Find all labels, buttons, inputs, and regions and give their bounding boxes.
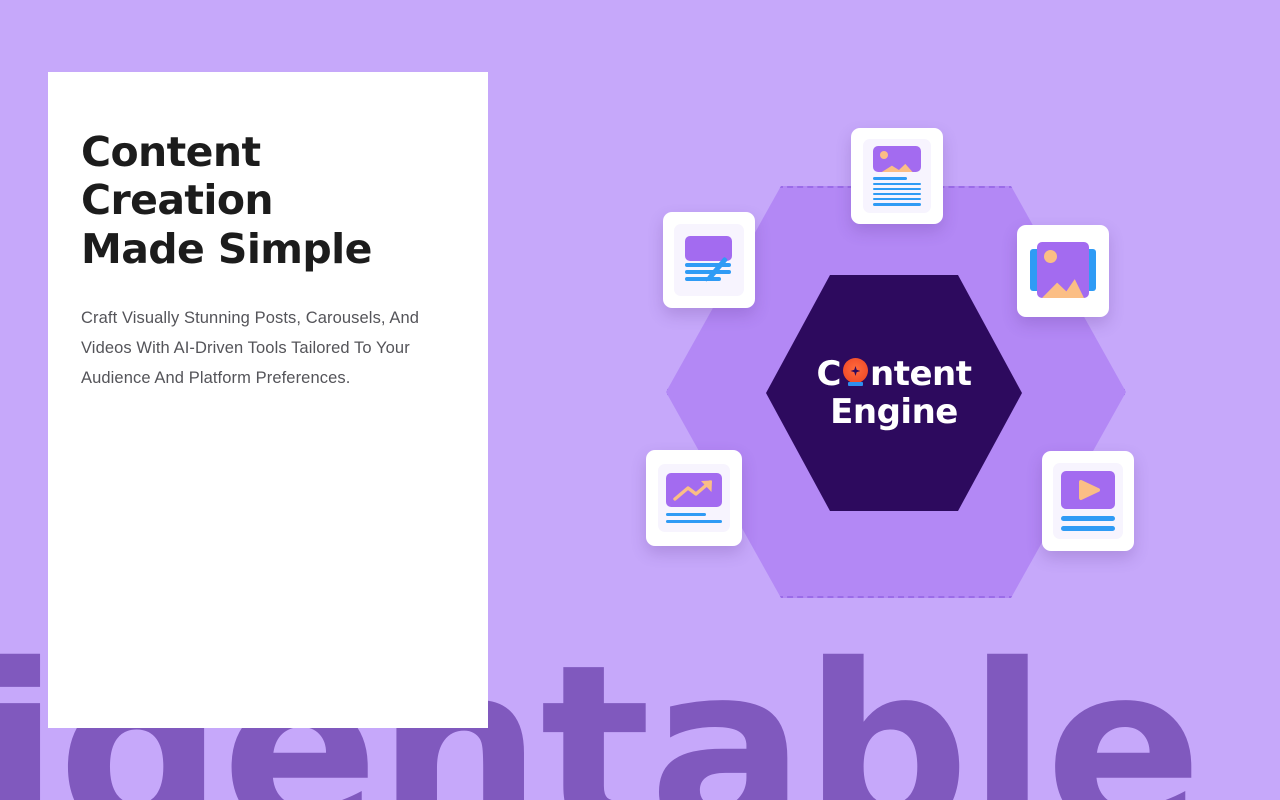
content-engine-graphic: C ntent Engine: [620, 100, 1160, 620]
image-gallery-icon: [1037, 242, 1089, 298]
text-line: [1061, 526, 1115, 531]
text-line: [873, 188, 921, 191]
badge-label-line-2: Engine: [830, 393, 958, 431]
text-line: [873, 183, 921, 186]
video-text-lines: [1061, 516, 1115, 531]
page-title: Content Creation Made Simple: [81, 128, 448, 273]
analytics-card[interactable]: [646, 450, 742, 546]
article-icon-frame: [863, 139, 931, 213]
sun-shape: [1044, 250, 1057, 263]
text-line: [666, 520, 722, 524]
text-line: [873, 203, 921, 206]
article-card[interactable]: [851, 128, 943, 224]
badge-label-line-1: C ntent: [817, 355, 972, 393]
text-line: [1061, 516, 1115, 521]
content-panel: Content Creation Made Simple Craft Visua…: [48, 72, 488, 728]
spark-bulb-icon: [842, 358, 869, 389]
badge-label-ntent: ntent: [870, 355, 971, 393]
page-description: Craft Visually Stunning Posts, Carousels…: [81, 303, 441, 393]
gallery-card[interactable]: [1017, 225, 1109, 317]
analytics-icon-frame: [658, 464, 730, 532]
article-text-lines: [873, 177, 921, 205]
text-line: [685, 270, 731, 274]
text-line: [873, 198, 921, 201]
text-line: [685, 277, 721, 281]
mountain-shape: [881, 161, 913, 172]
play-triangle-shape: [1061, 471, 1115, 509]
trending-up-chart-icon: [666, 473, 722, 507]
video-play-icon: [1061, 471, 1115, 509]
video-card[interactable]: [1042, 451, 1134, 551]
text-line: [666, 513, 706, 517]
write-icon-frame: [674, 224, 744, 296]
slide-canvas: identable Content Creation Made Simple C…: [0, 0, 1280, 800]
gallery-icon-frame: [1027, 240, 1099, 302]
video-icon-frame: [1053, 463, 1123, 539]
badge-label-c: C: [817, 355, 841, 393]
article-image-icon: [873, 146, 921, 172]
trend-arrow-shape: [666, 473, 722, 507]
write-card[interactable]: [663, 212, 755, 308]
text-line: [873, 193, 921, 196]
sun-shape: [880, 151, 888, 159]
text-line: [873, 177, 907, 180]
analytics-text-lines: [666, 513, 722, 524]
bulb-base-shape: [848, 382, 863, 386]
mountain-shape: [1042, 276, 1084, 298]
